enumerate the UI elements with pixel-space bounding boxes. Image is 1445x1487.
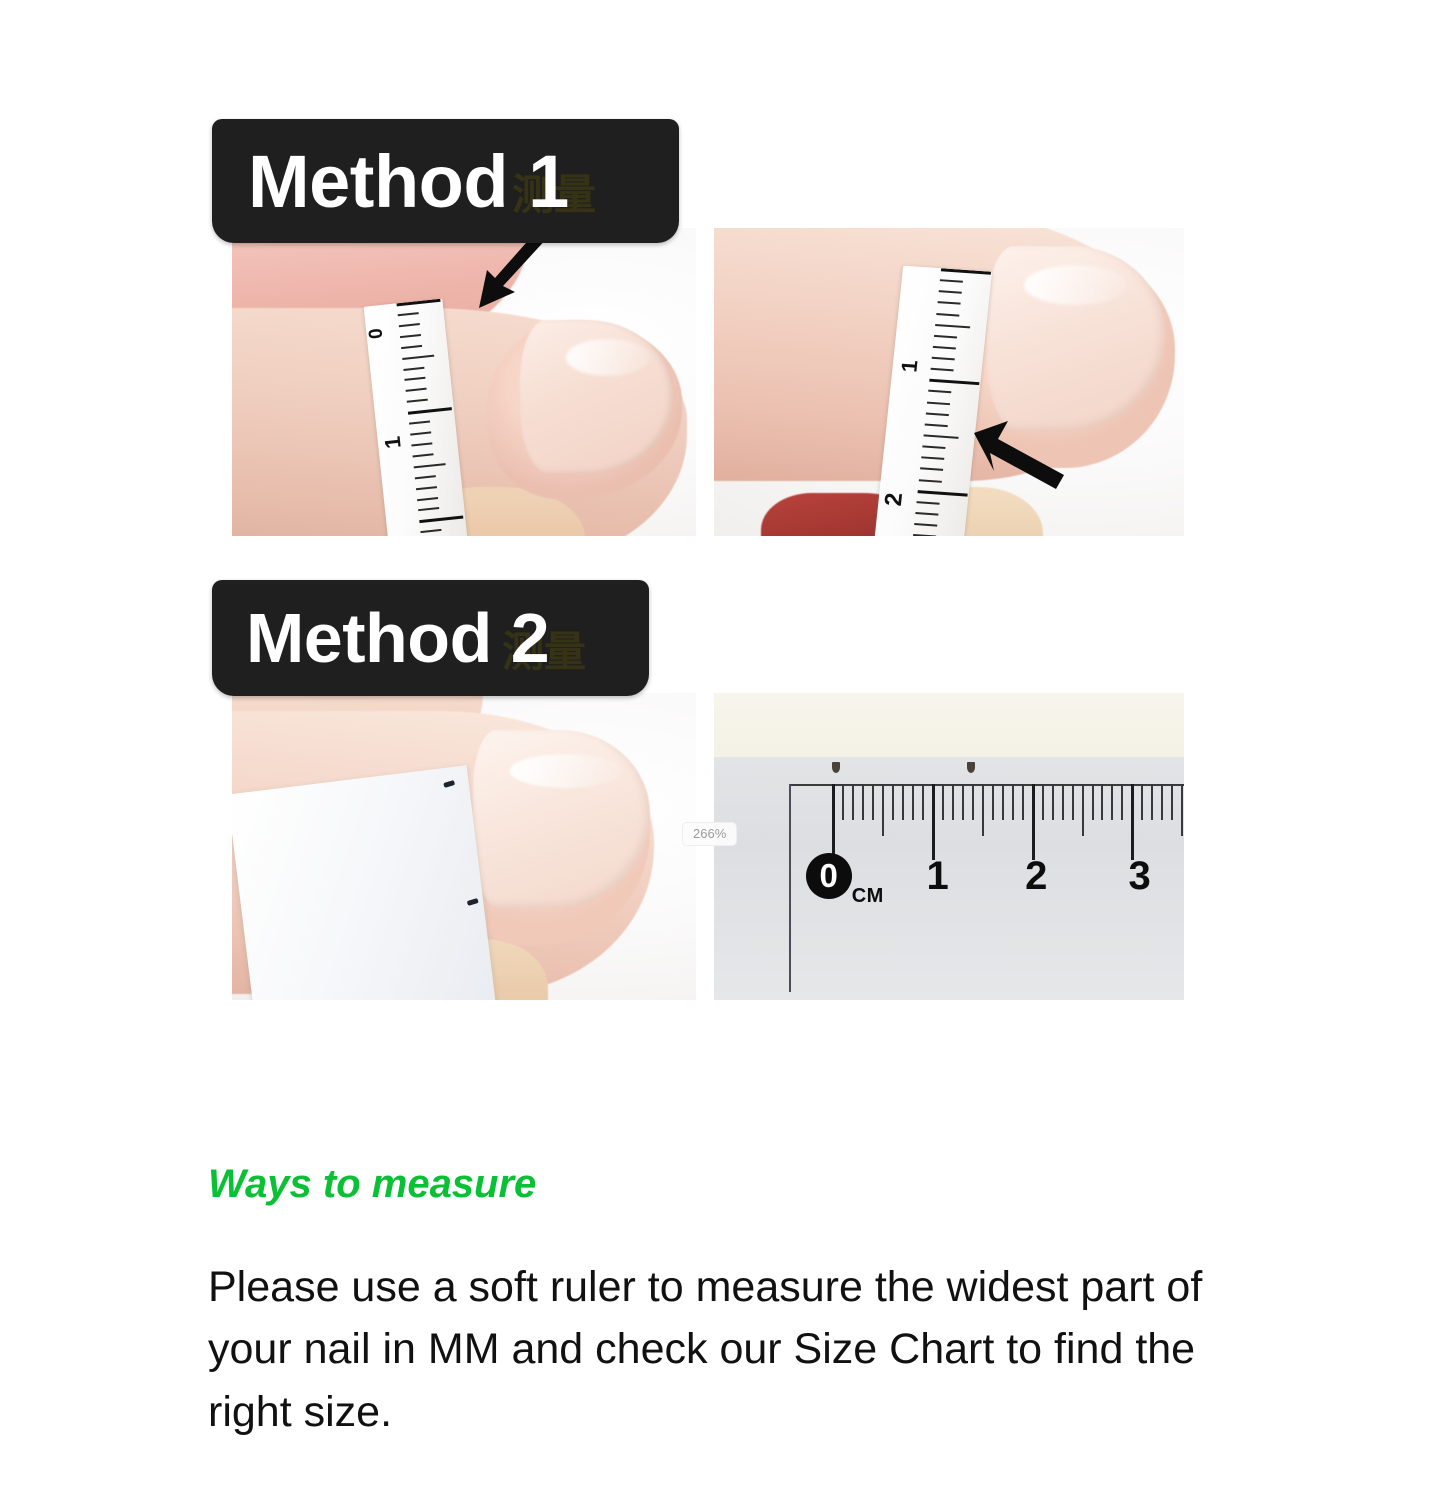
pen-mark-bottom — [467, 898, 479, 906]
ruler-number-2: 2 — [1025, 856, 1047, 896]
ruler-face — [714, 757, 1184, 1000]
section-heading: Ways to measure — [208, 1160, 1248, 1208]
ruler-backdrop — [714, 693, 1184, 757]
method-1-photo-left: 0 1 — [232, 228, 696, 536]
nail-highlight — [510, 754, 621, 788]
ruler-number-1: 1 — [926, 856, 948, 896]
method-2-label: Method 2 — [246, 598, 549, 678]
method-2-badge: 测量 Method 2 — [212, 580, 649, 696]
tape-number-1: 1 — [380, 435, 407, 450]
ruler-left-line — [789, 784, 791, 993]
pointer-arrow-icon — [968, 413, 1118, 533]
pen-mark-top — [443, 780, 455, 788]
tape-number-0: 0 — [365, 327, 388, 340]
zoom-level-badge[interactable]: 266% — [682, 822, 737, 846]
nail-highlight — [1024, 265, 1127, 305]
tape-number-1: 1 — [896, 359, 923, 373]
pointer-arrow-icon — [445, 228, 565, 342]
paper-strip — [232, 765, 496, 1000]
method-2-photo-left — [232, 693, 696, 1000]
ruler-zero-label: 0 — [806, 853, 852, 899]
ruler-number-3: 3 — [1129, 856, 1151, 896]
measure-instructions: Ways to measure Please use a soft ruler … — [208, 1160, 1248, 1443]
method-2-photo-right: 0 CM 1 2 3 — [714, 693, 1184, 1000]
ruler-illustration: 0 CM 1 2 3 — [714, 693, 1184, 1000]
method-1-badge: 测量 Method 1 — [212, 119, 679, 243]
nail-highlight — [566, 339, 650, 376]
ruler-edge-line — [789, 784, 1184, 786]
tape-number-2: 2 — [880, 492, 909, 507]
pen-mark-right — [967, 762, 975, 773]
method-1-photo-right: 1 2 — [714, 228, 1184, 536]
ruler-unit-label: CM — [852, 885, 884, 908]
method-1-label: Method 1 — [248, 139, 569, 224]
instruction-paragraph: Please use a soft ruler to measure the w… — [208, 1256, 1233, 1443]
